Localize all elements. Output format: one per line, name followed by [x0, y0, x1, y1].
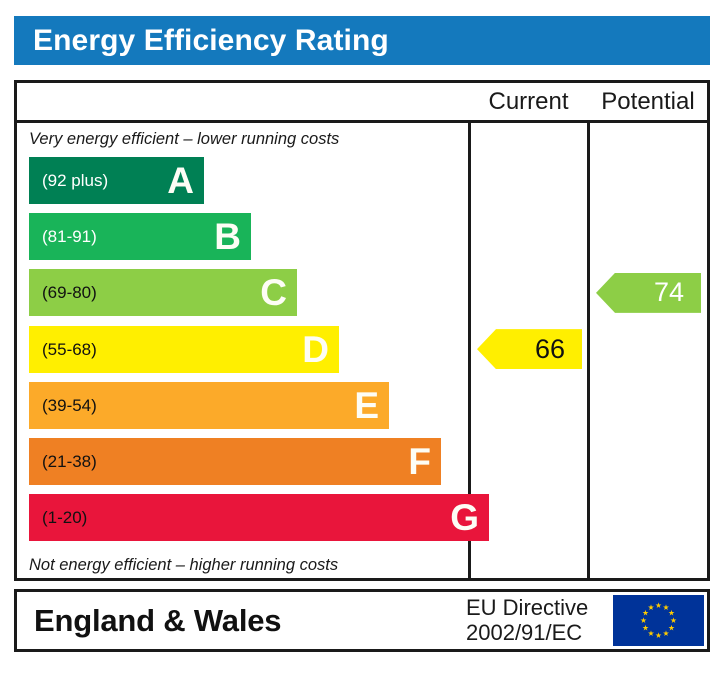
band-d: (55-68)D [29, 326, 339, 373]
band-range-g: (1-20) [42, 509, 87, 526]
band-letter-f: F [408, 443, 431, 480]
band-range-e: (39-54) [42, 397, 97, 414]
band-range-c: (69-80) [42, 284, 97, 301]
directive-line-2: 2002/91/EC [466, 621, 588, 646]
chart-title-banner: Energy Efficiency Rating [14, 16, 710, 65]
potential-rating-value: 74 [654, 279, 684, 306]
caption-inefficient: Not energy efficient – higher running co… [29, 551, 459, 579]
column-header-current: Current [470, 83, 587, 120]
band-letter-e: E [354, 387, 379, 424]
column-divider-2 [587, 123, 590, 578]
footer-directive: EU Directive 2002/91/EC [466, 592, 588, 649]
band-range-b: (81-91) [42, 228, 97, 245]
band-letter-d: D [302, 331, 329, 368]
band-letter-c: C [260, 274, 287, 311]
column-header-potential: Potential [589, 83, 707, 120]
band-g: (1-20)G [29, 494, 489, 541]
current-rating-value: 66 [535, 336, 565, 363]
band-c: (69-80)C [29, 269, 297, 316]
band-letter-a: A [167, 162, 194, 199]
energy-efficiency-certificate: Energy Efficiency Rating Current Potenti… [0, 0, 723, 677]
band-list: (92 plus)A(81-91)B(69-80)C(55-68)D(39-54… [17, 157, 468, 551]
band-range-f: (21-38) [42, 453, 97, 470]
table-header-row: Current Potential [17, 83, 707, 123]
band-f: (21-38)F [29, 438, 441, 485]
footer-region-label: England & Wales [34, 592, 281, 649]
directive-line-1: EU Directive [466, 596, 588, 621]
potential-rating-arrow: 74 [596, 273, 701, 313]
band-b: (81-91)B [29, 213, 251, 260]
band-letter-b: B [214, 218, 241, 255]
band-letter-g: G [450, 499, 479, 536]
caption-efficient: Very energy efficient – lower running co… [29, 125, 459, 153]
page-title: Energy Efficiency Rating [33, 26, 389, 56]
certificate-footer: England & Wales EU Directive 2002/91/EC [14, 589, 710, 652]
rating-table: Current Potential Very energy efficient … [14, 80, 710, 581]
band-range-a: (92 plus) [42, 172, 108, 189]
band-a: (92 plus)A [29, 157, 204, 204]
band-e: (39-54)E [29, 382, 389, 429]
eu-flag-icon [613, 595, 704, 646]
band-range-d: (55-68) [42, 341, 97, 358]
current-rating-arrow: 66 [477, 329, 582, 369]
